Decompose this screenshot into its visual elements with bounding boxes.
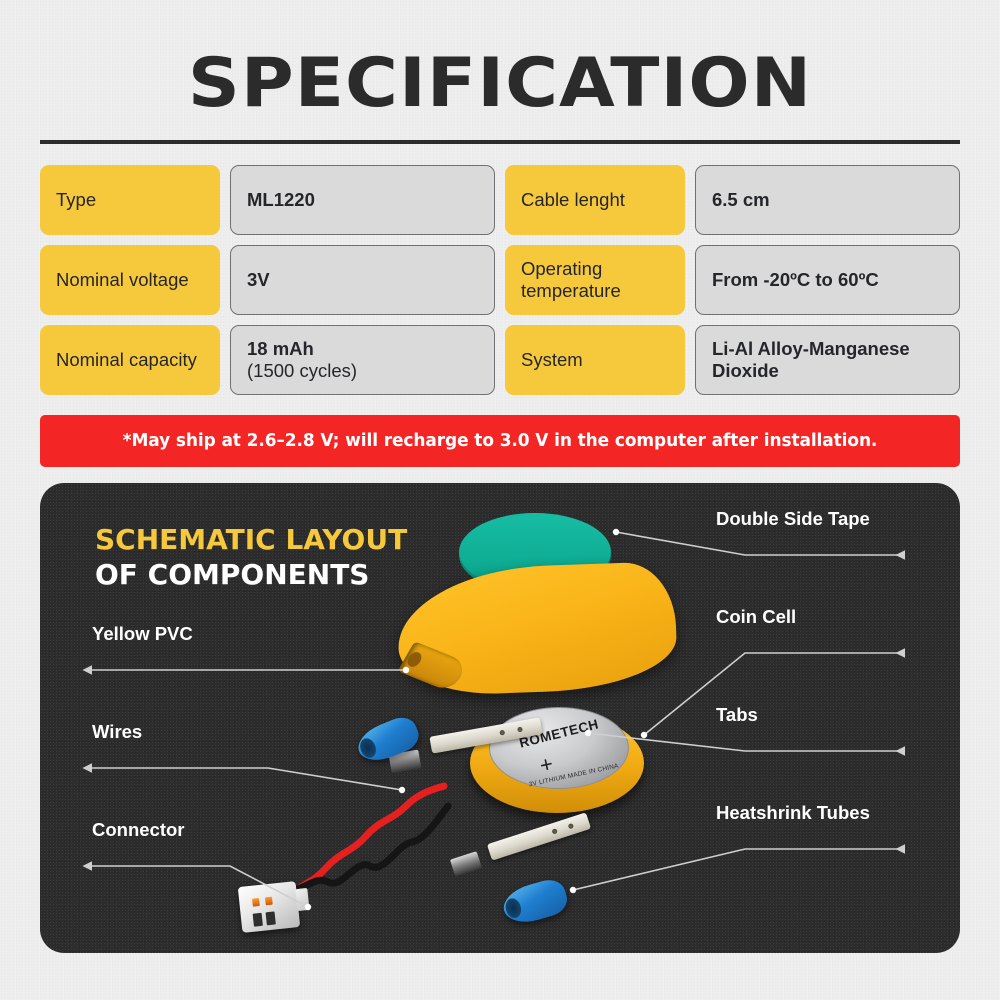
spec-label-cable-length: Cable lenght <box>505 165 685 235</box>
spec-value-nominal-voltage: 3V <box>230 245 495 315</box>
spec-value-type: ML1220 <box>230 165 495 235</box>
callout-label-tabs: Tabs <box>716 704 758 726</box>
spec-label-system: System <box>505 325 685 395</box>
spec-value-capacity-cycles: (1500 cycles) <box>247 360 357 382</box>
spec-value-operating-temperature: From -20ºC to 60ºC <box>695 245 960 315</box>
callout-leader-lines <box>40 483 960 953</box>
shipping-voltage-notice: *May ship at 2.6–2.8 V; will recharge to… <box>40 415 960 467</box>
spec-label-type: Type <box>40 165 220 235</box>
callout-label-heatshrink-tubes: Heatshrink Tubes <box>716 802 870 824</box>
callout-label-yellow-pvc: Yellow PVC <box>92 623 193 645</box>
callout-label-double-side-tape: Double Side Tape <box>716 508 870 530</box>
spec-value-capacity-main: 18 mAh <box>247 338 314 359</box>
page-title: SPECIFICATION <box>0 44 1000 123</box>
callout-label-coin-cell: Coin Cell <box>716 606 796 628</box>
spec-value-cable-length: 6.5 cm <box>695 165 960 235</box>
specification-table: Type ML1220 Cable lenght 6.5 cm Nominal … <box>40 165 960 395</box>
spec-label-nominal-voltage: Nominal voltage <box>40 245 220 315</box>
spec-label-nominal-capacity: Nominal capacity <box>40 325 220 395</box>
callout-label-connector: Connector <box>92 819 185 841</box>
spec-value-type-text: ML1220 <box>247 189 315 211</box>
shipping-voltage-notice-text: *May ship at 2.6–2.8 V; will recharge to… <box>123 431 878 451</box>
spec-label-operating-temperature: Operating temperature <box>505 245 685 315</box>
spec-value-system: Li-Al Alloy-Manganese Dioxide <box>695 325 960 395</box>
schematic-panel: SCHEMATIC LAYOUT OF COMPONENTS ROMETECH … <box>40 483 960 953</box>
callout-label-wires: Wires <box>92 721 142 743</box>
spec-value-nominal-capacity: 18 mAh (1500 cycles) <box>230 325 495 395</box>
title-divider <box>40 140 960 144</box>
specification-sheet: SPECIFICATION Type ML1220 Cable lenght 6… <box>0 0 1000 1000</box>
